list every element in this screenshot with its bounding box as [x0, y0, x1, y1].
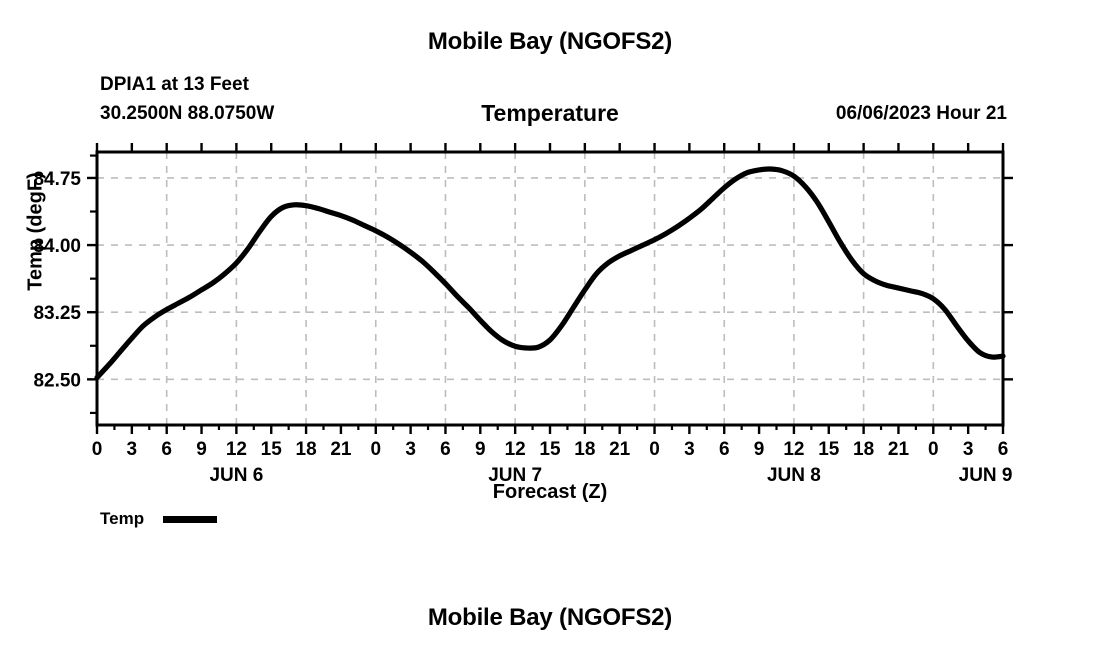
x-axis-tick-label: 9 — [475, 439, 486, 460]
x-axis-tick-label: 0 — [928, 439, 939, 460]
x-axis-tick-label: 21 — [888, 439, 910, 460]
chart-plot-area: 0369121518210369121518210369121518210368… — [0, 0, 1100, 600]
x-axis-tick-label: 6 — [998, 439, 1009, 460]
x-axis-tick-label: 0 — [649, 439, 660, 460]
y-axis-tick-label: 84.75 — [33, 169, 81, 190]
x-axis-tick-label: 6 — [161, 439, 172, 460]
x-axis-day-label: JUN 8 — [767, 465, 821, 486]
x-axis-day-label: JUN 9 — [959, 465, 1013, 486]
page-title-bottom: Mobile Bay (NGOFS2) — [0, 604, 1100, 632]
x-axis-tick-label: 18 — [296, 439, 317, 460]
x-axis-tick-label: 0 — [370, 439, 381, 460]
x-axis-tick-label: 21 — [330, 439, 352, 460]
x-axis-tick-label: 12 — [226, 439, 247, 460]
x-axis-tick-label: 3 — [684, 439, 695, 460]
x-axis-tick-label: 0 — [92, 439, 103, 460]
x-axis-tick-label: 21 — [609, 439, 631, 460]
x-axis-tick-label: 18 — [574, 439, 595, 460]
plot-frame — [97, 152, 1003, 425]
x-axis-tick-label: 9 — [196, 439, 207, 460]
legend-label: Temp — [100, 509, 144, 529]
x-axis-tick-label: 12 — [783, 439, 804, 460]
x-axis-tick-label: 3 — [405, 439, 416, 460]
x-axis-day-label: JUN 7 — [488, 465, 542, 486]
x-axis-tick-label: 12 — [505, 439, 526, 460]
chart-page: Mobile Bay (NGOFS2) DPIA1 at 13 Feet 30.… — [0, 0, 1100, 650]
x-axis-tick-label: 3 — [127, 439, 138, 460]
x-axis-tick-label: 3 — [963, 439, 974, 460]
x-axis-tick-label: 15 — [818, 439, 840, 460]
x-axis-tick-label: 15 — [539, 439, 561, 460]
y-axis-tick-label: 83.25 — [33, 303, 81, 324]
legend-color-swatch — [163, 516, 217, 523]
y-axis-tick-label: 84.00 — [33, 236, 81, 257]
x-axis-tick-label: 18 — [853, 439, 874, 460]
data-series-temp — [97, 169, 1003, 378]
x-axis-tick-label: 6 — [440, 439, 451, 460]
x-axis-day-label: JUN 6 — [209, 465, 263, 486]
x-axis-tick-label: 9 — [754, 439, 765, 460]
x-axis-tick-label: 15 — [261, 439, 283, 460]
y-axis-tick-label: 82.50 — [33, 370, 81, 391]
x-axis-tick-label: 6 — [719, 439, 730, 460]
